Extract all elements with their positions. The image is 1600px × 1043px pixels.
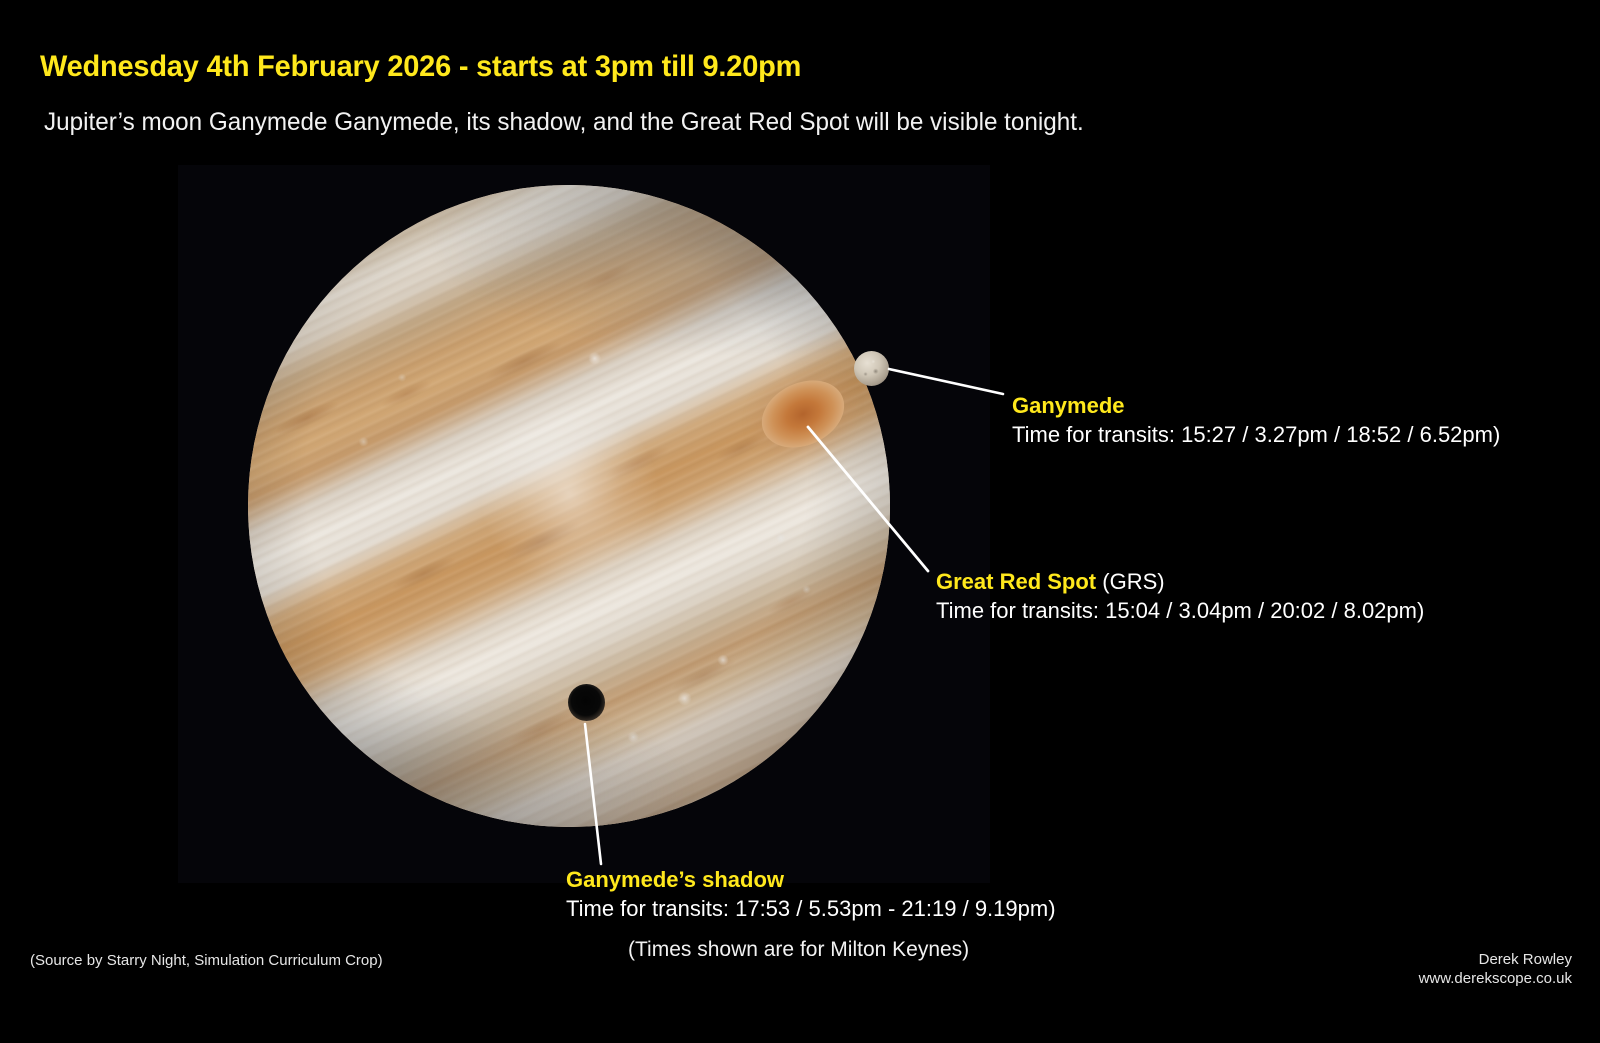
page-subtitle: Jupiter’s moon Ganymede Ganymede, its sh… xyxy=(44,108,1084,137)
ganymede-moon-marker xyxy=(854,351,889,386)
page-title: Wednesday 4th February 2026 - starts at … xyxy=(40,50,801,84)
callout-shadow-heading: Ganymede’s shadow xyxy=(566,866,1056,894)
callout-ganymede-times: Time for transits: 15:27 / 3.27pm / 18:5… xyxy=(1012,421,1500,449)
jupiter-limb-darkening xyxy=(248,185,890,827)
callout-ganymede-heading: Ganymede xyxy=(1012,392,1500,420)
footer-author-credit: Derek Rowley www.derekscope.co.uk xyxy=(1419,950,1572,988)
jupiter-disk xyxy=(248,185,890,827)
callout-grs-suffix: (GRS) xyxy=(1096,569,1164,594)
callout-shadow-title: Ganymede’s shadow xyxy=(566,867,784,892)
footer-website[interactable]: www.derekscope.co.uk xyxy=(1419,969,1572,988)
callout-grs-heading: Great Red Spot (GRS) xyxy=(936,568,1424,596)
footer-source-credit: (Source by Starry Night, Simulation Curr… xyxy=(30,952,383,969)
footer-location-note: (Times shown are for Milton Keynes) xyxy=(628,938,969,962)
callout-ganymede-shadow: Ganymede’s shadow Time for transits: 17:… xyxy=(566,866,1056,923)
callout-ganymede: Ganymede Time for transits: 15:27 / 3.27… xyxy=(1012,392,1500,449)
ganymede-shadow-marker xyxy=(568,684,605,721)
callout-shadow-times: Time for transits: 17:53 / 5.53pm - 21:1… xyxy=(566,895,1056,923)
callout-great-red-spot: Great Red Spot (GRS) Time for transits: … xyxy=(936,568,1424,625)
callout-ganymede-title: Ganymede xyxy=(1012,393,1125,418)
callout-grs-times: Time for transits: 15:04 / 3.04pm / 20:0… xyxy=(936,597,1424,625)
footer-author-name: Derek Rowley xyxy=(1419,950,1572,969)
simulation-image-panel xyxy=(178,165,990,883)
callout-grs-title: Great Red Spot xyxy=(936,569,1096,594)
infographic-canvas: Wednesday 4th February 2026 - starts at … xyxy=(0,0,1600,1043)
jupiter-planet xyxy=(248,185,890,827)
